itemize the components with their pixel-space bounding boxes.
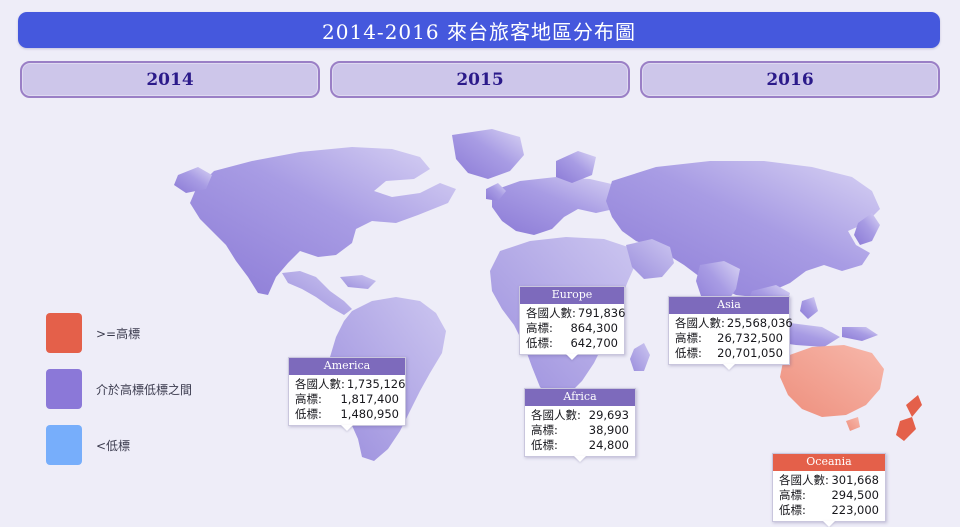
callout-tail: [823, 521, 835, 527]
tab-2015-label: 2015: [456, 70, 503, 90]
callout-value-high: 1,817,400: [340, 392, 399, 407]
callout-value-visitors: 301,668: [831, 473, 879, 488]
callout-row-low: 低標: 223,000: [779, 503, 879, 518]
callout-value-visitors: 25,568,036: [727, 316, 793, 331]
callout-row-high: 高標: 864,300: [526, 321, 618, 336]
tab-2014[interactable]: 2014: [20, 61, 320, 98]
callout-label-visitors: 各國人數:: [531, 408, 583, 423]
callout-body-africa: 各國人數: 29,693 高標: 38,900 低標: 24,800: [525, 406, 635, 456]
callout-value-low: 24,800: [589, 438, 629, 453]
callout-row-high: 高標: 26,732,500: [675, 331, 783, 346]
callout-tail: [574, 456, 586, 462]
callout-row-high: 高標: 294,500: [779, 488, 879, 503]
region-caribbean: [340, 275, 376, 289]
callout-row-low: 低標: 24,800: [531, 438, 629, 453]
legend-swatch-below-low: [46, 425, 82, 465]
callout-label-low: 低標:: [295, 407, 324, 422]
callout-body-oceania: 各國人數: 301,668 高標: 294,500 低標: 223,000: [773, 471, 885, 521]
callout-row-visitors: 各國人數: 301,668: [779, 473, 879, 488]
callout-row-visitors: 各國人數: 25,568,036: [675, 316, 783, 331]
legend-item-above-high: >=高標: [46, 313, 236, 353]
callout-header-america: America: [289, 358, 405, 375]
callout-label-high: 高標:: [295, 392, 324, 407]
continent-australia: [780, 345, 884, 417]
callout-label-high: 高標:: [531, 423, 560, 438]
legend-swatch-between: [46, 369, 82, 409]
callout-row-low: 低標: 20,701,050: [675, 346, 783, 361]
callout-header-oceania: Oceania: [773, 454, 885, 471]
region-callout-oceania[interactable]: Oceania 各國人數: 301,668 高標: 294,500 低標: 22…: [772, 453, 886, 522]
region-callout-africa[interactable]: Africa 各國人數: 29,693 高標: 38,900 低標: 24,80…: [524, 388, 636, 457]
legend-item-below-low: <低標: [46, 425, 236, 465]
callout-header-asia: Asia: [669, 297, 789, 314]
year-tab-bar: 2014 2015 2016: [20, 61, 940, 98]
callout-header-europe: Europe: [520, 287, 624, 304]
callout-value-high: 38,900: [589, 423, 629, 438]
continent-greenland: [452, 129, 524, 179]
callout-row-high: 高標: 38,900: [531, 423, 629, 438]
callout-label-low: 低標:: [779, 503, 808, 518]
callout-value-high: 294,500: [831, 488, 879, 503]
callout-label-high: 高標:: [675, 331, 704, 346]
callout-label-low: 低標:: [526, 336, 555, 351]
callout-tail: [341, 425, 353, 431]
tab-2016-label: 2016: [766, 70, 813, 90]
page-title-bar: 2014-2016 來台旅客地區分布圖: [18, 12, 940, 48]
callout-label-low: 低標:: [675, 346, 704, 361]
callout-label-high: 高標:: [526, 321, 555, 336]
callout-value-low: 1,480,950: [340, 407, 399, 422]
callout-body-america: 各國人數: 1,735,126 高標: 1,817,400 低標: 1,480,…: [289, 375, 405, 425]
legend-label-below-low: <低標: [96, 437, 130, 454]
callout-value-visitors: 1,735,126: [347, 377, 406, 392]
callout-tail: [723, 364, 735, 370]
region-tasmania: [846, 417, 860, 431]
tab-2014-label: 2014: [146, 70, 193, 90]
region-scandinavia: [556, 151, 596, 183]
region-callout-europe[interactable]: Europe 各國人數: 791,836 高標: 864,300 低標: 642…: [519, 286, 625, 355]
callout-label-visitors: 各國人數:: [675, 316, 727, 331]
region-callout-asia[interactable]: Asia 各國人數: 25,568,036 高標: 26,732,500 低標:…: [668, 296, 790, 365]
map-legend: >=高標 介於高標低標之間 <低標: [46, 313, 236, 481]
callout-header-africa: Africa: [525, 389, 635, 406]
callout-row-visitors: 各國人數: 791,836: [526, 306, 618, 321]
continent-north-america: [190, 147, 456, 295]
callout-value-high: 26,732,500: [717, 331, 783, 346]
callout-row-visitors: 各國人數: 1,735,126: [295, 377, 399, 392]
tab-2015[interactable]: 2015: [330, 61, 630, 98]
callout-value-low: 20,701,050: [717, 346, 783, 361]
region-new-zealand: [896, 395, 922, 441]
callout-value-visitors: 29,693: [589, 408, 629, 423]
legend-label-between: 介於高標低標之間: [96, 381, 192, 398]
callout-row-high: 高標: 1,817,400: [295, 392, 399, 407]
continent-europe: [492, 177, 626, 235]
callout-label-visitors: 各國人數:: [779, 473, 831, 488]
region-papua-new-guinea: [842, 327, 878, 341]
callout-value-low: 642,700: [570, 336, 618, 351]
callout-label-high: 高標:: [779, 488, 808, 503]
world-map-panel: >=高標 介於高標低標之間 <低標 America 各國人數: 1,735,12…: [0, 105, 960, 494]
region-philippines: [800, 297, 818, 319]
legend-label-above-high: >=高標: [96, 325, 140, 342]
callout-row-low: 低標: 1,480,950: [295, 407, 399, 422]
callout-row-visitors: 各國人數: 29,693: [531, 408, 629, 423]
callout-body-europe: 各國人數: 791,836 高標: 864,300 低標: 642,700: [520, 304, 624, 354]
region-madagascar: [630, 343, 650, 371]
callout-label-visitors: 各國人數:: [526, 306, 578, 321]
callout-value-low: 223,000: [831, 503, 879, 518]
callout-tail: [566, 354, 578, 360]
tab-2016[interactable]: 2016: [640, 61, 940, 98]
callout-label-visitors: 各國人數:: [295, 377, 347, 392]
page-title: 2014-2016 來台旅客地區分布圖: [322, 16, 636, 45]
callout-value-visitors: 791,836: [578, 306, 626, 321]
callout-value-high: 864,300: [570, 321, 618, 336]
legend-swatch-above-high: [46, 313, 82, 353]
region-callout-america[interactable]: America 各國人數: 1,735,126 高標: 1,817,400 低標…: [288, 357, 406, 426]
callout-body-asia: 各國人數: 25,568,036 高標: 26,732,500 低標: 20,7…: [669, 314, 789, 364]
legend-item-between: 介於高標低標之間: [46, 369, 236, 409]
callout-label-low: 低標:: [531, 438, 560, 453]
callout-row-low: 低標: 642,700: [526, 336, 618, 351]
